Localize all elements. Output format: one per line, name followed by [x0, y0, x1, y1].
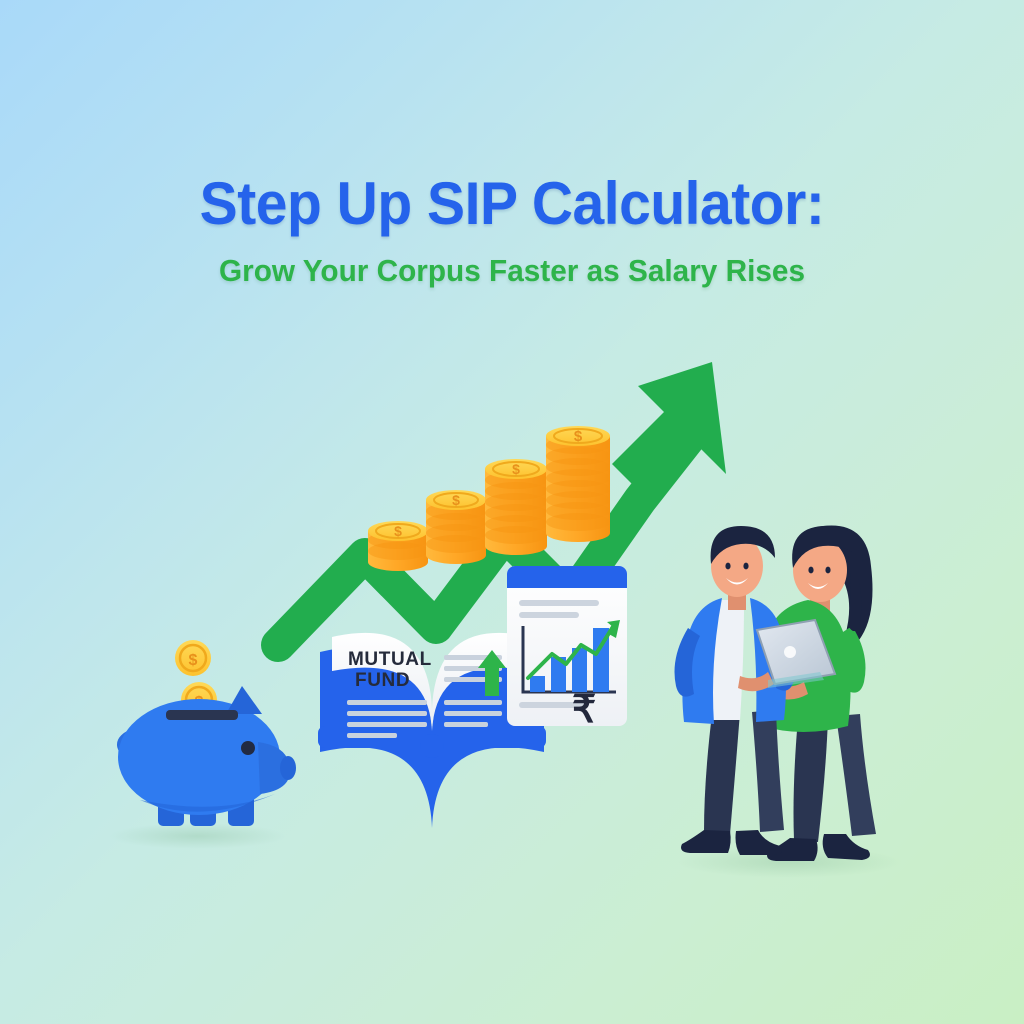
chart-report-card: ₹: [507, 566, 627, 731]
coin-stack-3: $: [485, 459, 547, 555]
coin-stack-4: $: [546, 426, 610, 542]
book-title-line2: FUND: [355, 670, 410, 691]
svg-text:$: $: [512, 461, 520, 477]
svg-text:$: $: [452, 492, 460, 508]
woman-shoe-right: [823, 834, 870, 860]
coin-stacks: $ $: [368, 426, 610, 571]
page-subtitle: Grow Your Corpus Faster as Salary Rises: [20, 252, 1003, 290]
woman-leg-left: [794, 718, 829, 842]
poster-canvas: $ $: [0, 0, 1024, 1024]
man-in-blue-jacket: [675, 526, 795, 855]
book-title-line1: MUTUAL: [348, 649, 432, 670]
svg-text:$: $: [574, 428, 583, 445]
man-leg-left: [704, 712, 740, 834]
couple-with-laptop: [675, 526, 903, 879]
rupee-symbol: ₹: [572, 689, 596, 731]
card-bar-1: [530, 676, 545, 692]
piggy-bank: $ $: [109, 640, 296, 849]
svg-text:$: $: [189, 652, 198, 669]
heading-block: Step Up SIP Calculator: Grow Your Corpus…: [0, 168, 1024, 290]
illustration-artwork: $ $: [0, 0, 1024, 1024]
svg-text:$: $: [394, 523, 402, 539]
piggy-coin-upper: $: [175, 640, 211, 676]
woman-leg-right: [836, 714, 876, 836]
coin-stack-1: $: [368, 521, 428, 571]
page-title: Step Up SIP Calculator:: [26, 168, 999, 240]
man-shoe-right: [736, 830, 783, 855]
man-shoe-left: [681, 830, 731, 853]
coin-stack-2: $: [426, 490, 486, 564]
card-header-bar: [507, 566, 627, 588]
